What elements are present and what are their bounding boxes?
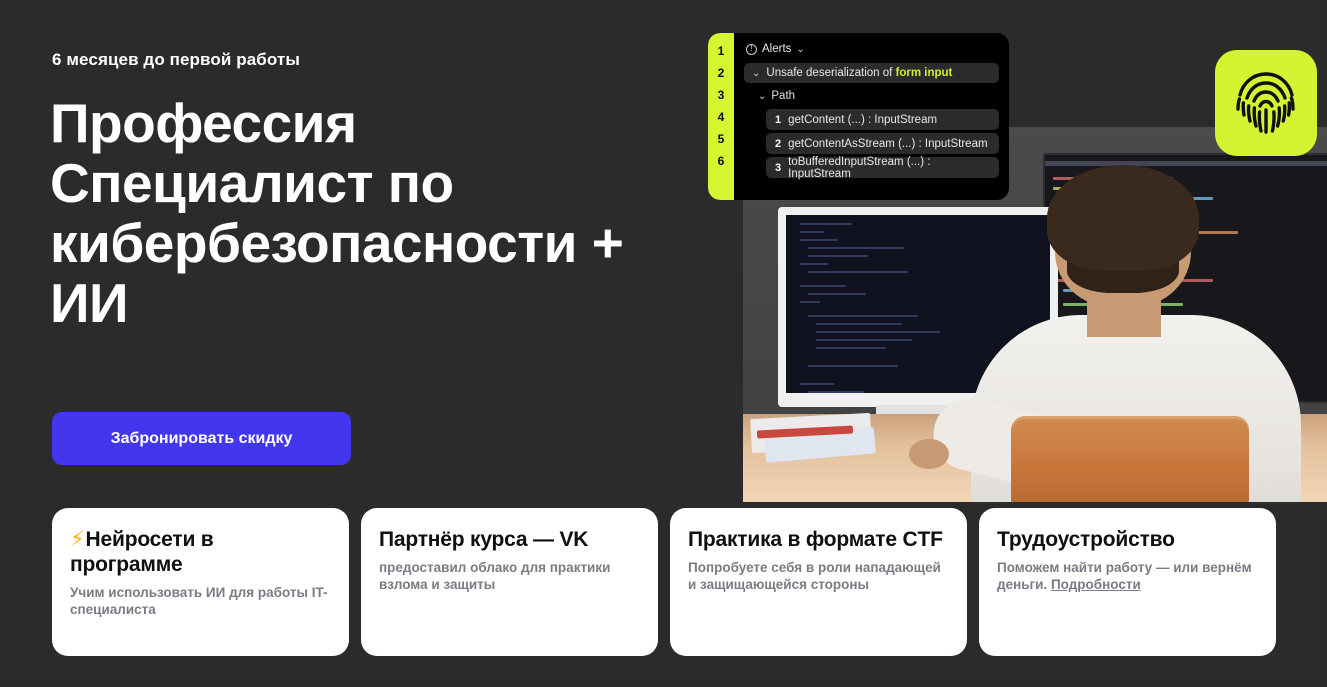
path-label: Path — [771, 90, 795, 102]
card-desc: Попробуете себя в роли нападающей и защи… — [688, 559, 949, 593]
line-number: 5 — [718, 133, 725, 145]
alerts-header[interactable]: ! Alerts ⌄ — [744, 42, 999, 56]
line-number: 6 — [718, 155, 725, 167]
feature-cards: ⚡Нейросети в программе Учим использовать… — [52, 508, 1276, 656]
chevron-down-icon[interactable]: ⌄ — [758, 91, 766, 102]
line-number-gutter: 1 2 3 4 5 6 — [708, 33, 734, 200]
card-title: ⚡Нейросети в программе — [70, 527, 331, 577]
bolt-icon: ⚡ — [70, 528, 85, 551]
hero-page: 1 2 3 4 5 6 ! Alerts ⌄ ⌄ Unsafe deserial… — [0, 0, 1327, 687]
feature-card[interactable]: Трудоустройство Поможем найти работу — и… — [979, 508, 1276, 656]
book-discount-button[interactable]: Забронировать скидку — [52, 412, 351, 465]
card-title: Партнёр курса — VK — [379, 527, 640, 552]
line-number: 2 — [718, 67, 725, 79]
feature-card[interactable]: ⚡Нейросети в программе Учим использовать… — [52, 508, 349, 656]
card-desc: Поможем найти работу — или вернём деньги… — [997, 559, 1258, 593]
step-number: 1 — [775, 114, 781, 126]
alert-highlight: form input — [896, 67, 953, 79]
fingerprint-icon — [1234, 68, 1298, 138]
card-desc: Учим использовать ИИ для работы IT-специ… — [70, 584, 331, 618]
card-desc: предоставил облако для практики взлома и… — [379, 559, 640, 593]
step-text: getContentAsStream (...) : InputStream — [788, 138, 987, 150]
chevron-down-icon[interactable]: ⌄ — [752, 68, 760, 79]
office-chair — [1011, 416, 1249, 502]
feature-card[interactable]: Практика в формате CTF Попробуете себя в… — [670, 508, 967, 656]
path-step[interactable]: 2 getContentAsStream (...) : InputStream — [766, 133, 999, 154]
step-text: getContent (...) : InputStream — [788, 114, 937, 126]
feature-card[interactable]: Партнёр курса — VK предоставил облако дл… — [361, 508, 658, 656]
path-step[interactable]: 1 getContent (...) : InputStream — [766, 109, 999, 130]
step-text: toBufferedInputStream (...) : InputStrea… — [788, 156, 990, 180]
chevron-down-icon[interactable]: ⌄ — [796, 44, 804, 55]
fingerprint-badge — [1215, 50, 1317, 156]
alert-circle-icon: ! — [746, 44, 757, 55]
page-title: Профессия Специалист по кибербезопасност… — [50, 93, 690, 333]
line-number: 3 — [718, 89, 725, 101]
alert-text: Unsafe deserialization of form input — [766, 67, 952, 79]
path-group[interactable]: ⌄ Path — [744, 86, 999, 106]
alert-item[interactable]: ⌄ Unsafe deserialization of form input — [744, 63, 999, 83]
kicker: 6 месяцев до первой работы — [52, 50, 300, 70]
line-number: 1 — [718, 45, 725, 57]
details-link[interactable]: Подробности — [1051, 577, 1141, 592]
step-number: 3 — [775, 162, 781, 174]
step-number: 2 — [775, 138, 781, 150]
card-title: Трудоустройство — [997, 527, 1258, 552]
path-step[interactable]: 3 toBufferedInputStream (...) : InputStr… — [766, 157, 999, 178]
line-number: 4 — [718, 111, 725, 123]
card-title: Практика в формате CTF — [688, 527, 949, 552]
alerts-label: Alerts — [762, 43, 791, 55]
alerts-panel: 1 2 3 4 5 6 ! Alerts ⌄ ⌄ Unsafe deserial… — [708, 33, 1009, 200]
